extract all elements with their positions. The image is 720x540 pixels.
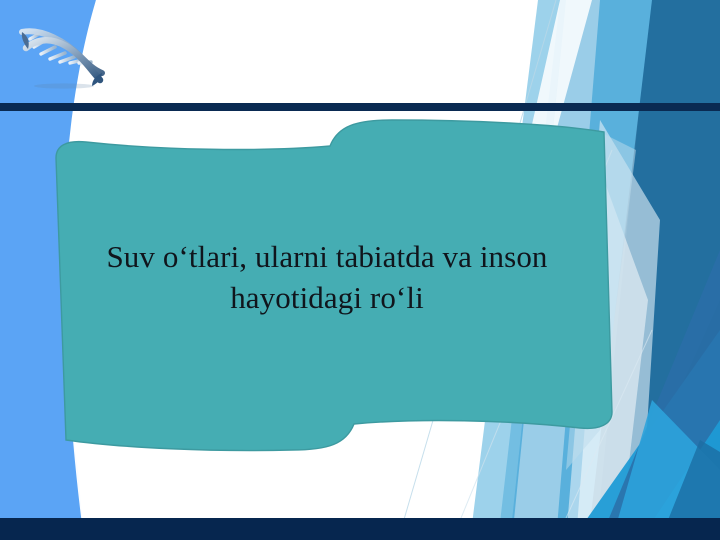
dna-shadow (34, 83, 94, 88)
slide-canvas: Suv o‘tlari, ularni tabiatda va inson ha… (0, 0, 720, 540)
dna-helix-icon (8, 18, 112, 90)
header-divider-bar (0, 103, 720, 111)
slide-title: Suv o‘tlari, ularni tabiatda va inson ha… (62, 236, 592, 318)
title-placeholder[interactable]: Suv o‘tlari, ularni tabiatda va inson ha… (62, 236, 592, 318)
footer-bar (0, 518, 720, 540)
